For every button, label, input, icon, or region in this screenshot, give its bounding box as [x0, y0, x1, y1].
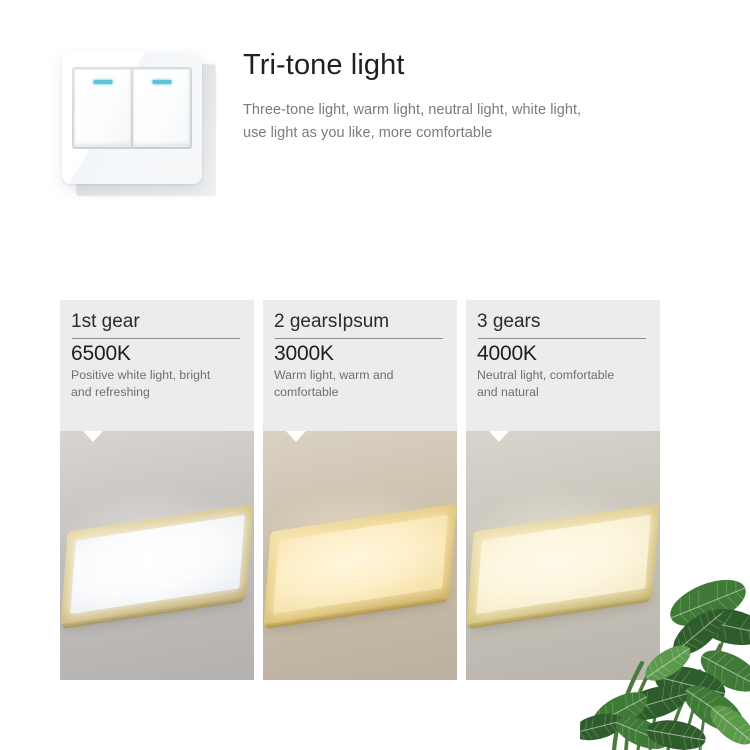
panel-description: Warm light, warm and comfortable [274, 367, 447, 400]
color-temperature-panels: 1st gear 6500K Positive white light, bri… [60, 300, 690, 680]
panel-photo [466, 431, 660, 680]
panel-divider [72, 338, 240, 339]
panel-divider [478, 338, 646, 339]
hero-section: Tri-tone light Three-tone light, warm li… [0, 0, 750, 300]
hero-subtitle-line-1: Three-tone light, warm light, neutral li… [243, 99, 683, 122]
panel-header: 3 gears 4000K Neutral light, comfortable… [466, 300, 660, 431]
panel-description-line-2: and natural [477, 384, 650, 400]
panel-1st-gear: 1st gear 6500K Positive white light, bri… [60, 300, 254, 680]
panel-description: Positive white light, bright and refresh… [71, 367, 244, 400]
panel-header: 2 gearsIpsum 3000K Warm light, warm and … [263, 300, 457, 431]
panel-2-gears: 2 gearsIpsum 3000K Warm light, warm and … [263, 300, 457, 680]
panel-photo [263, 431, 457, 680]
panel-title: 2 gearsIpsum [274, 312, 447, 332]
hero-subtitle-line-2: use light as you like, more comfortable [243, 122, 683, 145]
hero-subtitle: Three-tone light, warm light, neutral li… [243, 99, 683, 146]
panel-description: Neutral light, comfortable and natural [477, 367, 650, 400]
page-title: Tri-tone light [243, 48, 683, 83]
panel-description-line-1: Positive white light, bright [71, 367, 244, 383]
led-indicator-icon [152, 80, 171, 84]
wall-switch-illustration [52, 42, 224, 200]
panel-photo [60, 431, 254, 680]
panel-kelvin-value: 4000K [477, 342, 650, 366]
hero-copy: Tri-tone light Three-tone light, warm li… [243, 48, 683, 146]
panel-description-line-2: and refreshing [71, 384, 244, 400]
panel-description-line-1: Warm light, warm and [274, 367, 447, 383]
panel-kelvin-value: 3000K [274, 342, 447, 366]
led-indicator-icon [93, 80, 112, 84]
panel-kelvin-value: 6500K [71, 342, 244, 366]
panel-title: 3 gears [477, 312, 650, 332]
switch-rocker-2[interactable] [133, 69, 190, 147]
switch-rockers [74, 69, 190, 147]
panel-divider [275, 338, 443, 339]
panel-title: 1st gear [71, 312, 244, 332]
switch-rocker-1[interactable] [74, 69, 131, 147]
panel-description-line-2: comfortable [274, 384, 447, 400]
panel-description-line-1: Neutral light, comfortable [477, 367, 650, 383]
panel-header: 1st gear 6500K Positive white light, bri… [60, 300, 254, 431]
panel-3-gears: 3 gears 4000K Neutral light, comfortable… [466, 300, 660, 680]
